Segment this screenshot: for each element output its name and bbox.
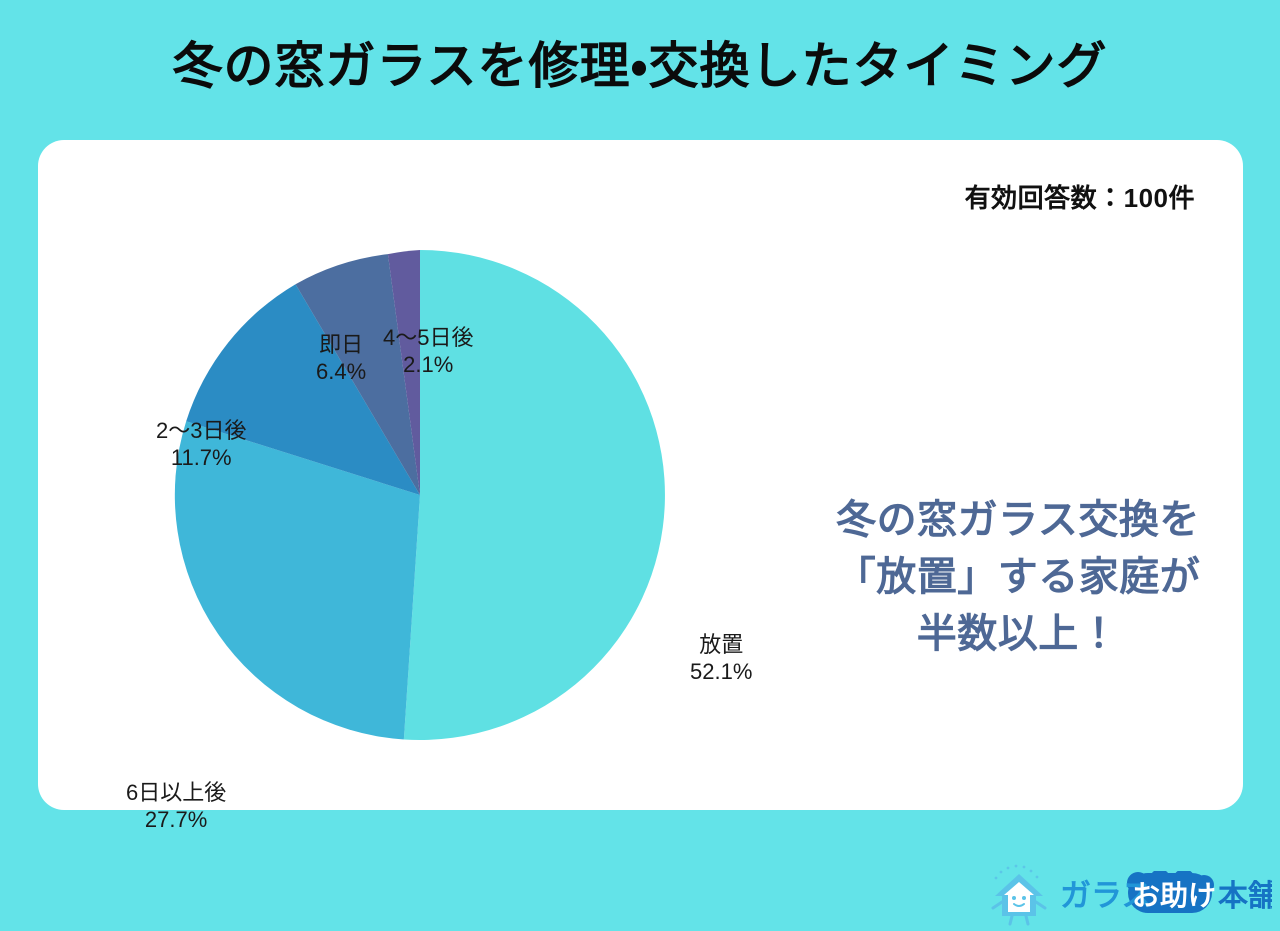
pie-label-6days-plus-name: 6日以上後 xyxy=(126,780,226,807)
callout-line-3: 半数以上！ xyxy=(783,606,1253,663)
pie-label-same-day: 即日 6.4% xyxy=(316,332,366,386)
content-card: 有効回答数：100件 放置 52.1% 即日 xyxy=(38,140,1243,810)
pie-label-6days-plus: 6日以上後 27.7% xyxy=(126,780,226,834)
pie-slice-houchi[interactable] xyxy=(404,250,665,740)
callout-line-2: 「放置」する家庭が xyxy=(783,549,1253,606)
pie-label-houchi: 放置 52.1% xyxy=(690,632,752,686)
pie-label-4to5days-name: 4〜5日後 xyxy=(383,325,473,352)
infographic-root: 冬の窓ガラスを修理・交換したタイミング 有効回答数：100件 放置 xyxy=(0,0,1280,853)
pie-label-4to5days: 4〜5日後 2.1% xyxy=(383,325,473,379)
pie-label-2to3days-value: 11.7% xyxy=(156,445,246,472)
pie-label-houchi-name: 放置 xyxy=(690,632,752,659)
sample-size-note: 有効回答数：100件 xyxy=(965,178,1195,215)
house-mascot-icon xyxy=(986,862,1052,926)
pie-label-same-day-value: 6.4% xyxy=(316,359,366,386)
callout-message: 冬の窓ガラス交換を 「放置」する家庭が 半数以上！ xyxy=(783,492,1253,662)
pie-chart-area: 放置 52.1% 即日 6.4% 4〜5日後 2.1% 2〜3日後 11.7% … xyxy=(38,140,798,810)
pie-chart-svg xyxy=(170,245,670,745)
pie-label-houchi-value: 52.1% xyxy=(690,659,752,686)
brand-logo[interactable]: ガラス お助け 本舗 xyxy=(986,858,1266,930)
pie-label-same-day-name: 即日 xyxy=(316,332,366,359)
brand-logo-wordmark: ガラス お助け 本舗 xyxy=(1060,862,1272,926)
title-bar: 冬の窓ガラスを修理・交換したタイミング xyxy=(0,24,1280,108)
pie-label-2to3days: 2〜3日後 11.7% xyxy=(156,418,246,472)
svg-text:お助け: お助け xyxy=(1132,880,1216,911)
svg-text:本舗: 本舗 xyxy=(1218,880,1272,913)
page-title: 冬の窓ガラスを修理・交換したタイミング xyxy=(173,39,1108,94)
pie-label-4to5days-value: 2.1% xyxy=(383,352,473,379)
callout-line-1: 冬の窓ガラス交換を xyxy=(783,492,1253,549)
pie-label-2to3days-name: 2〜3日後 xyxy=(156,418,246,445)
pie-label-6days-plus-value: 27.7% xyxy=(126,807,226,834)
